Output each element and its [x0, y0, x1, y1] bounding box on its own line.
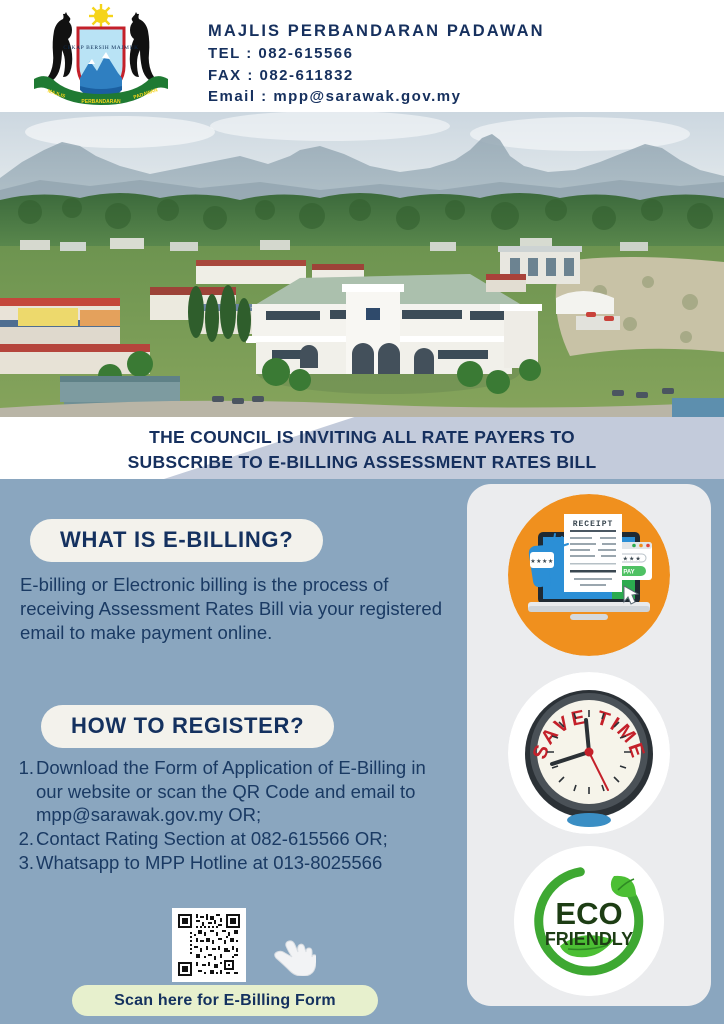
list-item-text: Contact Rating Section at 082-615566 OR;	[36, 827, 444, 851]
svg-text:RECEIPT: RECEIPT	[573, 520, 614, 529]
svg-text:PERBANDARAN: PERBANDARAN	[81, 99, 121, 105]
list-item-number: 2.	[14, 827, 36, 851]
how-to-register-title: HOW TO REGISTER?	[41, 705, 334, 748]
illustration-panel: ★★★★ PAY RECEIPT	[467, 484, 711, 1006]
organization-name: MAJLIS PERBANDARAN PADAWAN	[208, 20, 545, 43]
save-time-clock-illustration: SAVE TIME	[508, 672, 670, 834]
headline-band: THE COUNCIL IS INVITING ALL RATE PAYERS …	[0, 417, 724, 479]
eco-label-line-2: FRIENDLY	[545, 929, 633, 949]
header: CEKAP BERSIH MAJMUK MAJLIS PERBANDARAN P…	[0, 0, 724, 112]
email-label: Email : mpp@sarawak.gov.my	[208, 86, 545, 107]
list-item-text: Whatsapp to MPP Hotline at 013-8025566	[36, 851, 444, 875]
headline-line-2: SUBSCRIBE TO E-BILLING ASSESSMENT RATES …	[0, 450, 724, 475]
svg-text:PAY: PAY	[623, 570, 634, 576]
fax-label: FAX : 082-611832	[208, 65, 545, 86]
svg-text:CEKAP BERSIH MAJMUK: CEKAP BERSIH MAJMUK	[63, 45, 138, 51]
telephone-label: TEL : 082-615566	[208, 43, 545, 64]
what-is-ebilling-body: E-billing or Electronic billing is the p…	[20, 573, 445, 645]
list-item-number: 3.	[14, 851, 36, 875]
eco-label-line-1: ECO	[555, 896, 622, 931]
headline-line-1: THE COUNCIL IS INVITING ALL RATE PAYERS …	[0, 425, 724, 450]
headline-text: THE COUNCIL IS INVITING ALL RATE PAYERS …	[0, 425, 724, 475]
list-item-text: Download the Form of Application of E-Bi…	[36, 756, 444, 827]
receipt-online-payment-illustration: ★★★★ PAY RECEIPT	[508, 494, 670, 656]
pointing-hand-icon	[270, 932, 316, 976]
eco-friendly-badge-illustration: ECO FRIENDLY	[514, 846, 664, 996]
list-item: 2. Contact Rating Section at 082-615566 …	[14, 827, 444, 851]
what-is-ebilling-title: WHAT IS E-BILLING?	[30, 519, 323, 562]
scan-here-button[interactable]: Scan here for E-Billing Form	[72, 985, 378, 1016]
aerial-photo	[0, 112, 724, 417]
council-crest-logo: CEKAP BERSIH MAJMUK MAJLIS PERBANDARAN P…	[26, 2, 176, 108]
list-item: 1. Download the Form of Application of E…	[14, 756, 444, 827]
qr-code[interactable]	[172, 908, 246, 982]
svg-text:★★★★: ★★★★	[530, 558, 554, 565]
how-to-register-steps: 1. Download the Form of Application of E…	[14, 756, 444, 874]
scan-here-button-label: Scan here for E-Billing Form	[114, 992, 336, 1010]
list-item-number: 1.	[14, 756, 36, 780]
list-item: 3. Whatsapp to MPP Hotline at 013-802556…	[14, 851, 444, 875]
poster-root: CEKAP BERSIH MAJMUK MAJLIS PERBANDARAN P…	[0, 0, 724, 1024]
header-contact-block: MAJLIS PERBANDARAN PADAWAN TEL : 082-615…	[208, 20, 545, 107]
